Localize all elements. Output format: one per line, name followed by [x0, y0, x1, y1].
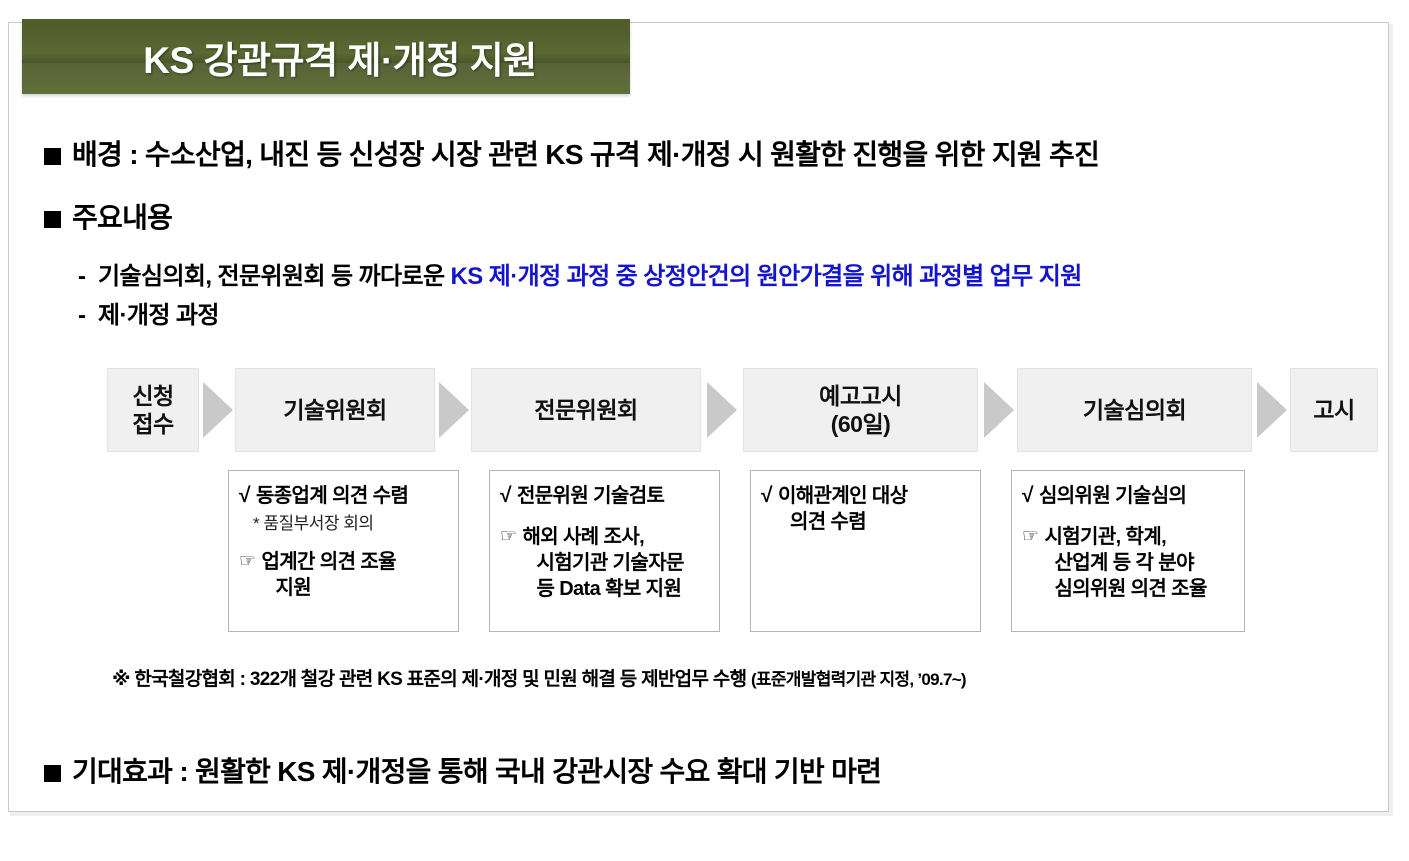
square-bullet-icon — [44, 148, 61, 165]
square-bullet-icon — [44, 765, 61, 782]
detail-box-1: √ 동종업계 의견 수렴 * 품질부서장 회의 ☞ 업계간 의견 조율지원 — [228, 470, 459, 632]
detail-4-hand-row: ☞ 시험기관, 학계,산업계 등 각 분야심의위원 의견 조율 — [1022, 524, 1236, 602]
detail-box-4: √ 심의위원 기술심의 ☞ 시험기관, 학계,산업계 등 각 분야심의위원 의견… — [1011, 470, 1245, 632]
process-flow: 신청접수 기술위원회 전문위원회 예고고시(60일) 기술심의회 — [107, 368, 1362, 452]
flow-arrow-2-icon — [439, 382, 469, 438]
page-title: KS 강관규격 제·개정 지원 — [22, 19, 630, 94]
reference-mark-icon: ※ — [112, 669, 130, 690]
flow-arrow-3-icon — [707, 382, 737, 438]
flow-step-6-label: 고시 — [1313, 396, 1354, 424]
detail-1-check-row: √ 동종업계 의견 수렴 — [239, 483, 450, 510]
flow-arrow-1-icon — [203, 382, 233, 438]
spacer — [500, 510, 711, 524]
detail-1-hand-text: 업계간 의견 조율지원 — [261, 549, 450, 601]
detail-1-hand-row: ☞ 업계간 의견 조율지원 — [239, 549, 450, 601]
flow-arrow-4-icon — [984, 382, 1014, 438]
flow-step-3[interactable]: 전문위원회 — [471, 368, 701, 452]
detail-3-check-text: 이해관계인 대상의견 수렴 — [778, 483, 972, 535]
flow-step-5[interactable]: 기술심의회 — [1017, 368, 1252, 452]
bullet-dash: - — [78, 302, 98, 330]
detail-2-hand-row: ☞ 해외 사례 조사,시험기관 기술자문등 Data 확보 지원 — [500, 524, 711, 602]
footnote-main-text: 한국철강협회 : 322개 철강 관련 KS 표준의 제·개정 및 민원 해결 … — [134, 669, 746, 690]
pointing-hand-icon: ☞ — [1022, 524, 1038, 550]
flow-arrow-5-icon — [1257, 382, 1287, 438]
bullet-item-1-black: 기술심의회, 전문위원회 등 까다로운 — [98, 263, 451, 290]
detail-3-check-row: √ 이해관계인 대상의견 수렴 — [761, 483, 972, 535]
check-mark-icon: √ — [500, 483, 511, 510]
flow-step-2[interactable]: 기술위원회 — [235, 368, 435, 452]
detail-2-check-row: √ 전문위원 기술검토 — [500, 483, 711, 510]
detail-4-check-row: √ 심의위원 기술심의 — [1022, 483, 1236, 510]
square-bullet-icon — [44, 211, 61, 228]
spacer — [1022, 510, 1236, 524]
flow-step-5-label: 기술심의회 — [1083, 396, 1186, 424]
asterisk-icon: * — [253, 514, 259, 533]
section-background-label: 배경 : 수소산업, 내진 등 신성장 시장 관련 KS 규격 제·개정 시 원… — [72, 133, 1099, 173]
detail-box-2: √ 전문위원 기술검토 ☞ 해외 사례 조사,시험기관 기술자문등 Data 확… — [489, 470, 720, 632]
detail-1-sub-text: 품질부서장 회의 — [263, 514, 373, 533]
section-expected-effect: 기대효과 : 원활한 KS 제·개정을 통해 국내 강관시장 수요 확대 기반 … — [44, 750, 881, 790]
footnote-paren-text: (표준개발협력기관 지정, ’09.7~) — [751, 670, 966, 689]
pointing-hand-icon: ☞ — [500, 524, 516, 550]
pointing-hand-icon: ☞ — [239, 549, 255, 575]
flow-step-4-label: 예고고시(60일) — [819, 382, 902, 438]
detail-box-3: √ 이해관계인 대상의견 수렴 — [750, 470, 981, 632]
detail-1-subnote: * 품질부서장 회의 — [253, 513, 450, 535]
detail-1-check-text: 동종업계 의견 수렴 — [256, 483, 450, 509]
slide-root: KS 강관규격 제·개정 지원 배경 : 수소산업, 내진 등 신성장 시장 관… — [0, 0, 1409, 861]
bullet-item-2: -제·개정 과정 — [78, 295, 219, 330]
check-mark-icon: √ — [1022, 483, 1033, 510]
detail-2-hand-text: 해외 사례 조사,시험기관 기술자문등 Data 확보 지원 — [522, 524, 711, 602]
title-banner: KS 강관규격 제·개정 지원 — [22, 19, 630, 94]
check-mark-icon: √ — [239, 483, 250, 510]
flow-step-3-label: 전문위원회 — [534, 396, 637, 424]
bullet-item-2-black: 제·개정 과정 — [98, 302, 219, 329]
bullet-dash: - — [78, 263, 98, 291]
spacer — [239, 535, 450, 549]
section-main-content-label: 주요내용 — [72, 196, 172, 236]
flow-step-6[interactable]: 고시 — [1290, 368, 1378, 452]
check-mark-icon: √ — [761, 483, 772, 510]
bullet-item-1: -기술심의회, 전문위원회 등 까다로운 KS 제·개정 과정 중 상정안건의 … — [78, 256, 1082, 291]
section-background: 배경 : 수소산업, 내진 등 신성장 시장 관련 KS 규격 제·개정 시 원… — [44, 133, 1099, 173]
detail-4-check-text: 심의위원 기술심의 — [1039, 483, 1236, 509]
flow-step-4[interactable]: 예고고시(60일) — [743, 368, 978, 452]
flow-step-1-label: 신청접수 — [132, 382, 173, 438]
detail-4-hand-text: 시험기관, 학계,산업계 등 각 분야심의위원 의견 조율 — [1044, 524, 1236, 602]
flow-step-1[interactable]: 신청접수 — [107, 368, 199, 452]
section-main-content: 주요내용 — [44, 196, 172, 236]
detail-2-check-text: 전문위원 기술검토 — [517, 483, 711, 509]
bullet-item-1-blue: KS 제·개정 과정 중 상정안건의 원안가결을 위해 과정별 업무 지원 — [451, 263, 1082, 290]
footnote: ※ 한국철강협회 : 322개 철강 관련 KS 표준의 제·개정 및 민원 해… — [112, 664, 966, 691]
section-expected-effect-label: 기대효과 : 원활한 KS 제·개정을 통해 국내 강관시장 수요 확대 기반 … — [72, 750, 881, 790]
flow-step-2-label: 기술위원회 — [283, 396, 386, 424]
